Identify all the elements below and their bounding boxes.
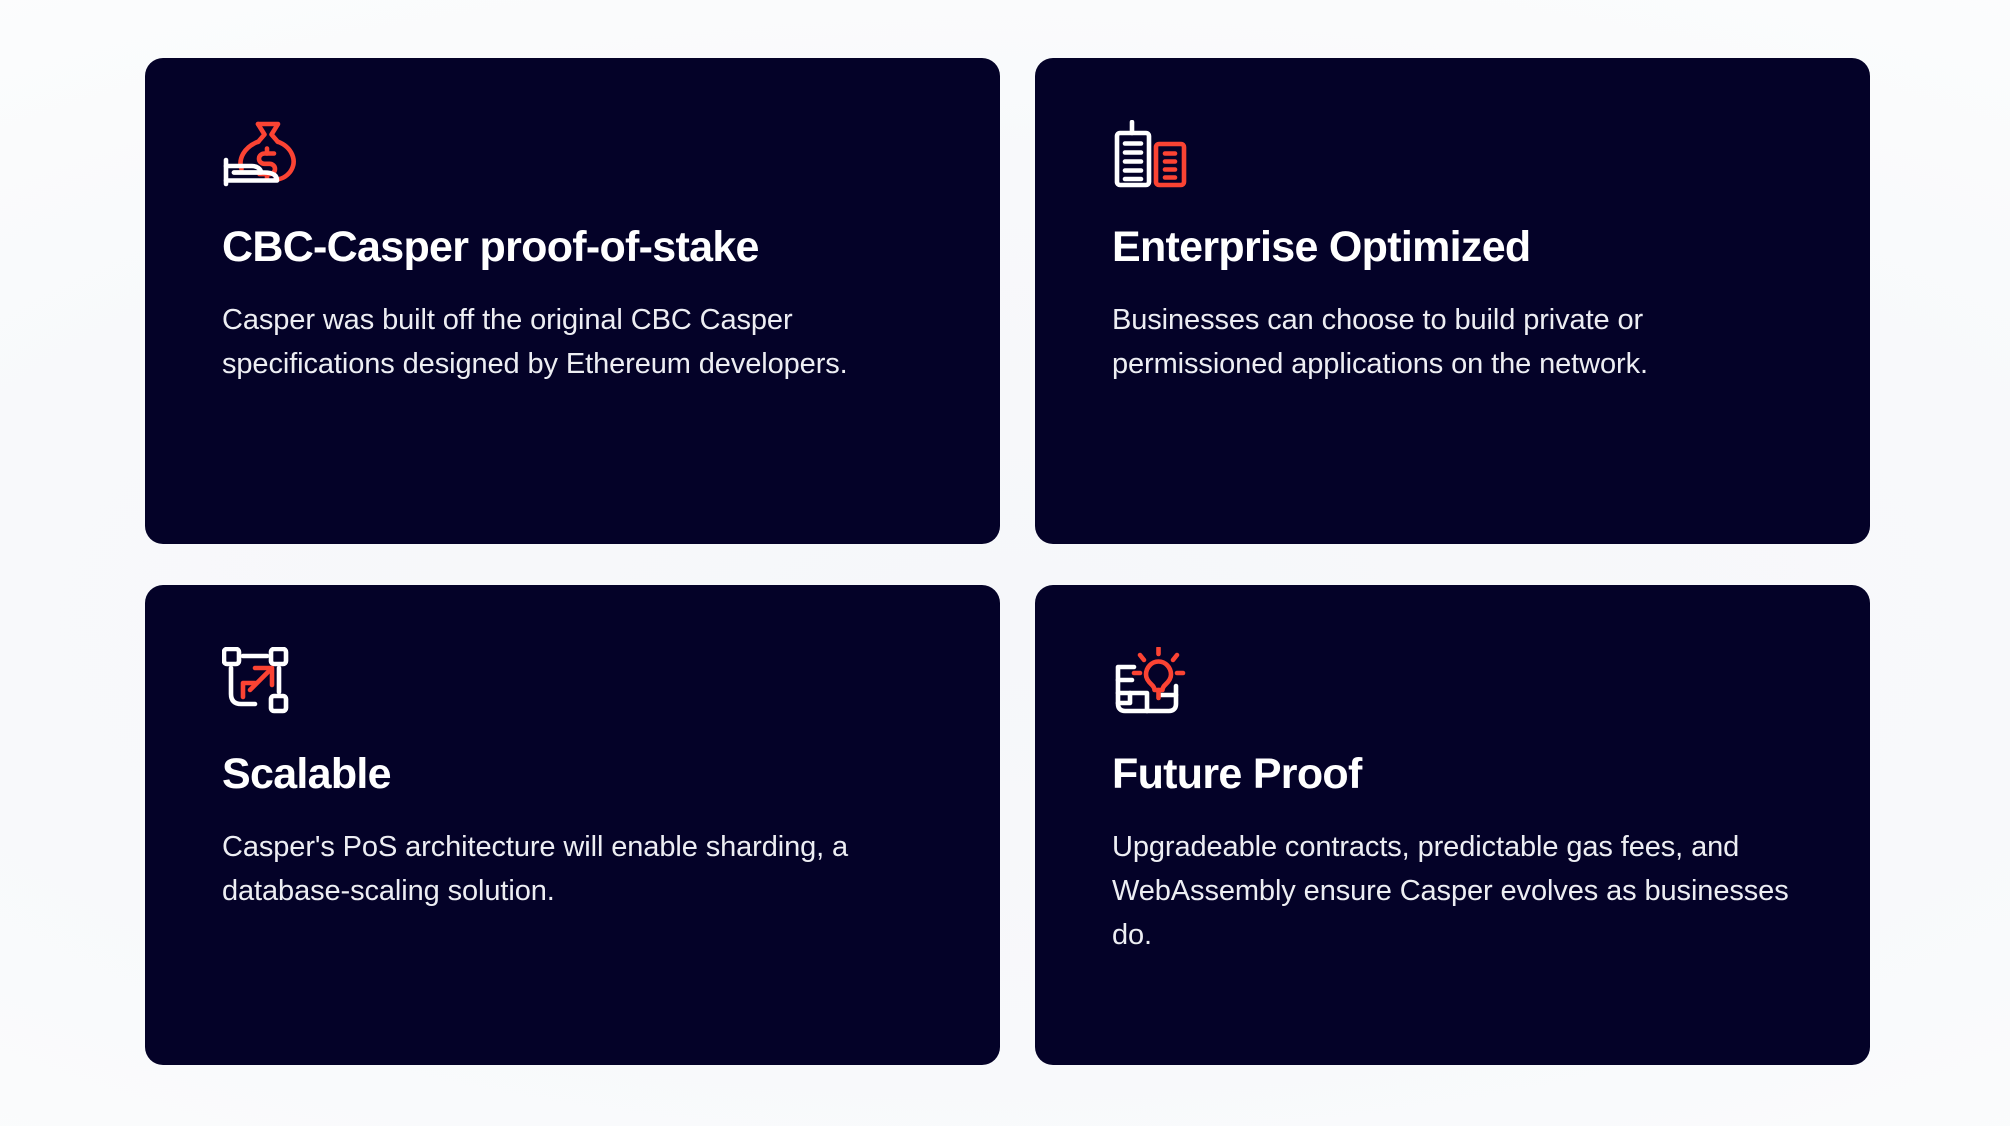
office-buildings-icon — [1112, 120, 1796, 188]
scale-arrow-icon — [222, 647, 926, 715]
feature-card-enterprise-optimized[interactable]: Enterprise Optimized Businesses can choo… — [1035, 58, 1870, 544]
feature-cards-page: CBC-Casper proof-of-stake Casper was bui… — [0, 0, 2010, 1126]
feature-card-cbc-casper[interactable]: CBC-Casper proof-of-stake Casper was bui… — [145, 58, 1000, 544]
card-body: Businesses can choose to build private o… — [1112, 298, 1796, 386]
feature-card-future-proof[interactable]: Future Proof Upgradeable contracts, pred… — [1035, 585, 1870, 1065]
money-bag-in-hand-icon — [222, 120, 926, 188]
feature-card-scalable[interactable]: Scalable Casper's PoS architecture will … — [145, 585, 1000, 1065]
card-title: Future Proof — [1112, 751, 1796, 798]
card-body: Casper's PoS architecture will enable sh… — [222, 825, 926, 913]
feature-cards-grid: CBC-Casper proof-of-stake Casper was bui… — [145, 58, 1870, 1065]
card-body: Upgradeable contracts, predictable gas f… — [1112, 825, 1796, 957]
card-title: Enterprise Optimized — [1112, 224, 1796, 271]
card-title: Scalable — [222, 751, 926, 798]
blueprint-lightbulb-icon — [1112, 647, 1796, 715]
card-title: CBC-Casper proof-of-stake — [222, 224, 926, 271]
card-body: Casper was built off the original CBC Ca… — [222, 298, 926, 386]
